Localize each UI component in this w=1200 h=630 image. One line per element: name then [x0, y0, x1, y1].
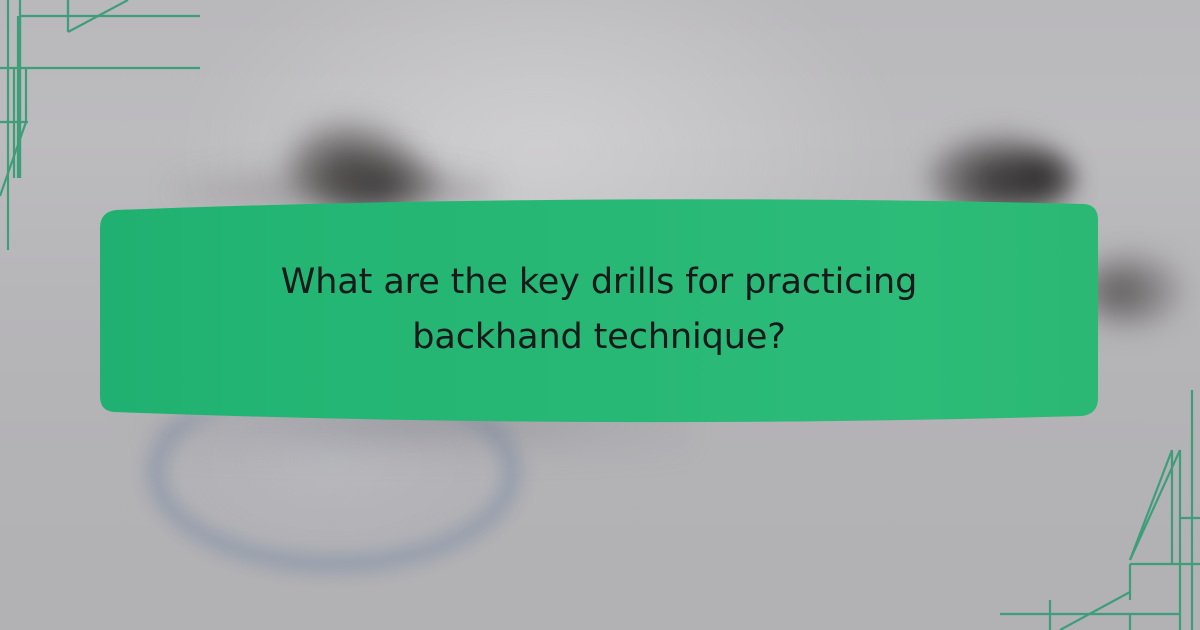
question-line-1: What are the key drills for practicing — [281, 255, 917, 310]
question-banner: What are the key drills for practicing b… — [98, 194, 1100, 428]
banner-text-block: What are the key drills for practicing b… — [98, 194, 1100, 428]
question-line-2: backhand technique? — [412, 310, 786, 365]
screenshot-canvas: What are the key drills for practicing b… — [0, 0, 1200, 630]
